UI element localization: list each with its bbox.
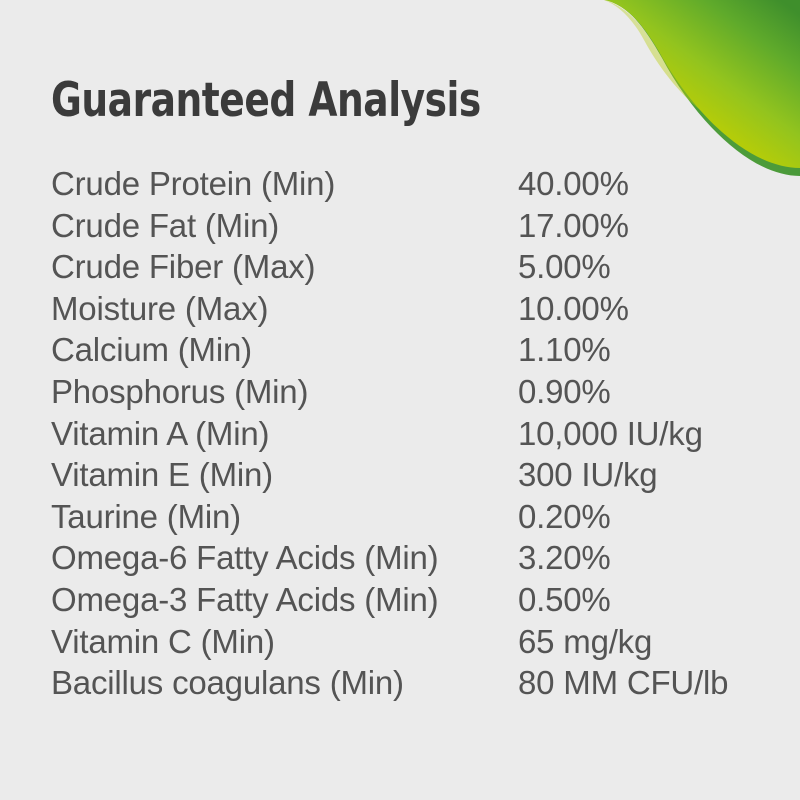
nutrient-value: 300 IU/kg <box>518 454 768 496</box>
analysis-row: Phosphorus (Min)0.90% <box>51 371 771 413</box>
analysis-row: Taurine (Min)0.20% <box>51 496 771 538</box>
nutrient-value: 17.00% <box>518 205 768 247</box>
nutrient-label: Crude Fiber (Max) <box>51 246 518 288</box>
nutrient-label: Crude Fat (Min) <box>51 205 518 247</box>
nutrient-label: Phosphorus (Min) <box>51 371 518 413</box>
nutrient-label: Vitamin C (Min) <box>51 621 518 663</box>
nutrient-value: 65 mg/kg <box>518 621 768 663</box>
nutrient-label: Omega-3 Fatty Acids (Min) <box>51 579 518 621</box>
page-title: Guaranteed Analysis <box>51 76 481 126</box>
analysis-row: Omega-6 Fatty Acids (Min)3.20% <box>51 537 771 579</box>
nutrient-label: Vitamin E (Min) <box>51 454 518 496</box>
nutrient-label: Calcium (Min) <box>51 329 518 371</box>
analysis-row: Omega-3 Fatty Acids (Min)0.50% <box>51 579 771 621</box>
nutrient-value: 0.20% <box>518 496 768 538</box>
nutrient-label: Omega-6 Fatty Acids (Min) <box>51 537 518 579</box>
nutrient-value: 0.90% <box>518 371 768 413</box>
nutrient-value: 80 MM CFU/lb <box>518 662 768 704</box>
guaranteed-analysis-panel: Guaranteed Analysis Crude Protein (Min)4… <box>0 0 800 800</box>
leaf-body-shape <box>604 0 800 168</box>
analysis-row: Vitamin E (Min)300 IU/kg <box>51 454 771 496</box>
nutrient-label: Bacillus coagulans (Min) <box>51 662 518 704</box>
analysis-row: Vitamin C (Min)65 mg/kg <box>51 621 771 663</box>
nutrient-label: Crude Protein (Min) <box>51 163 518 205</box>
leaf-edge-shape <box>606 0 800 176</box>
analysis-row: Crude Fiber (Max)5.00% <box>51 246 771 288</box>
nutrient-value: 0.50% <box>518 579 768 621</box>
nutrient-value: 10,000 IU/kg <box>518 413 768 455</box>
analysis-row: Crude Protein (Min)40.00% <box>51 163 771 205</box>
nutrient-value: 1.10% <box>518 329 768 371</box>
nutrient-label: Taurine (Min) <box>51 496 518 538</box>
nutrient-value: 3.20% <box>518 537 768 579</box>
nutrient-value: 5.00% <box>518 246 768 288</box>
nutrient-label: Moisture (Max) <box>51 288 518 330</box>
nutrient-value: 40.00% <box>518 163 768 205</box>
analysis-row: Bacillus coagulans (Min)80 MM CFU/lb <box>51 662 771 704</box>
nutrient-label: Vitamin A (Min) <box>51 413 518 455</box>
guaranteed-analysis-list: Crude Protein (Min)40.00%Crude Fat (Min)… <box>51 163 771 704</box>
analysis-row: Moisture (Max)10.00% <box>51 288 771 330</box>
leaf-vein-shape <box>604 0 700 110</box>
nutrient-value: 10.00% <box>518 288 768 330</box>
green-leaf-swoosh-icon <box>600 0 800 180</box>
analysis-row: Calcium (Min)1.10% <box>51 329 771 371</box>
analysis-row: Crude Fat (Min)17.00% <box>51 205 771 247</box>
analysis-row: Vitamin A (Min)10,000 IU/kg <box>51 413 771 455</box>
